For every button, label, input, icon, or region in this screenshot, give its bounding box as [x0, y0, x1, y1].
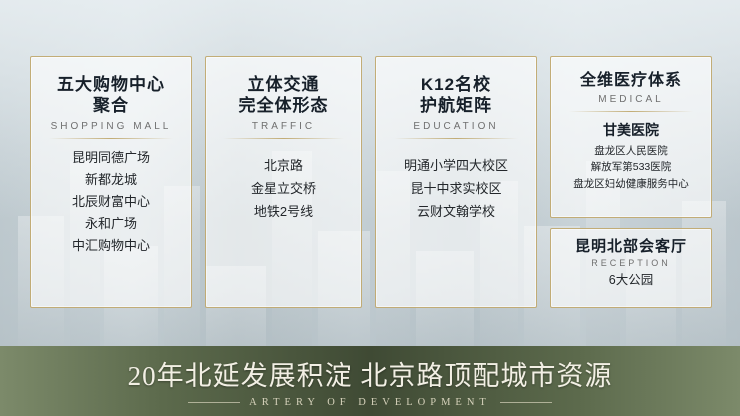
list-item: 昆十中求实校区 — [376, 178, 536, 201]
card-traffic-subtitle: TRAFFIC — [206, 121, 361, 132]
card-reception-subtitle: RECEPTION — [551, 258, 711, 268]
list-item: 解放军第533医院 — [551, 159, 711, 176]
banner-english-text: ARTERY OF DEVELOPMENT — [249, 397, 491, 408]
banner-headline: 20年北延发展积淀 北京路顶配城市资源 — [128, 354, 613, 393]
feature-card-grid: 五大购物中心 聚合 SHOPPING MALL 昆明同德广场 新都龙城 北辰财富… — [0, 42, 740, 322]
list-item: 盘龙区妇幼健康服务中心 — [551, 176, 711, 193]
card-shopping-mall: 五大购物中心 聚合 SHOPPING MALL 昆明同德广场 新都龙城 北辰财富… — [30, 56, 192, 308]
card-education-divider — [394, 138, 519, 139]
card-traffic-title: 立体交通 完全体形态 — [206, 57, 361, 116]
card-shopping-divider — [49, 138, 174, 139]
list-item: 北辰财富中心 — [31, 191, 191, 213]
list-item: 6大公园 — [551, 270, 711, 290]
bottom-banner: 20年北延发展积淀 北京路顶配城市资源 ARTERY OF DEVELOPMEN… — [0, 346, 740, 416]
card-medical-subtitle: MEDICAL — [551, 94, 711, 105]
card-shopping-items: 昆明同德广场 新都龙城 北辰财富中心 永和广场 中汇购物中心 — [31, 147, 191, 256]
banner-rule-right — [500, 402, 552, 403]
list-item: 新都龙城 — [31, 169, 191, 191]
card-traffic-divider — [223, 138, 344, 139]
list-item: 昆明同德广场 — [31, 147, 191, 169]
banner-subline: ARTERY OF DEVELOPMENT — [188, 397, 552, 408]
list-item: 云财文翰学校 — [376, 201, 536, 224]
card-medical-items: 盘龙区人民医院 解放军第533医院 盘龙区妇幼健康服务中心 — [551, 143, 711, 193]
card-reception-items: 6大公园 — [551, 270, 711, 290]
list-item: 明通小学四大校区 — [376, 155, 536, 178]
card-education: K12名校 护航矩阵 EDUCATION 明通小学四大校区 昆十中求实校区 云财… — [375, 56, 537, 308]
poster-root: 五大购物中心 聚合 SHOPPING MALL 昆明同德广场 新都龙城 北辰财富… — [0, 0, 740, 416]
card-reception-title: 昆明北部会客厅 — [551, 229, 711, 256]
card-medical-highlight: 甘美医院 — [551, 120, 711, 140]
banner-rule-left — [188, 402, 240, 403]
card-shopping-subtitle: SHOPPING MALL — [31, 121, 191, 132]
list-item: 盘龙区人民医院 — [551, 143, 711, 160]
card-education-items: 明通小学四大校区 昆十中求实校区 云财文翰学校 — [376, 147, 536, 223]
card-reception: 昆明北部会客厅 RECEPTION 6大公园 — [550, 228, 712, 308]
card-medical-divider — [569, 111, 694, 112]
list-item: 永和广场 — [31, 213, 191, 235]
list-item: 中汇购物中心 — [31, 235, 191, 257]
card-education-subtitle: EDUCATION — [376, 121, 536, 132]
card-education-title: K12名校 护航矩阵 — [376, 57, 536, 116]
card-traffic: 立体交通 完全体形态 TRAFFIC 北京路 金星立交桥 地铁2号线 — [205, 56, 362, 308]
list-item: 地铁2号线 — [206, 201, 361, 224]
card-shopping-title: 五大购物中心 聚合 — [31, 57, 191, 116]
card-medical: 全维医疗体系 MEDICAL 甘美医院 盘龙区人民医院 解放军第533医院 盘龙… — [550, 56, 712, 218]
card-medical-title: 全维医疗体系 — [551, 57, 711, 91]
list-item: 北京路 — [206, 155, 361, 178]
list-item: 金星立交桥 — [206, 178, 361, 201]
card-traffic-items: 北京路 金星立交桥 地铁2号线 — [206, 147, 361, 223]
